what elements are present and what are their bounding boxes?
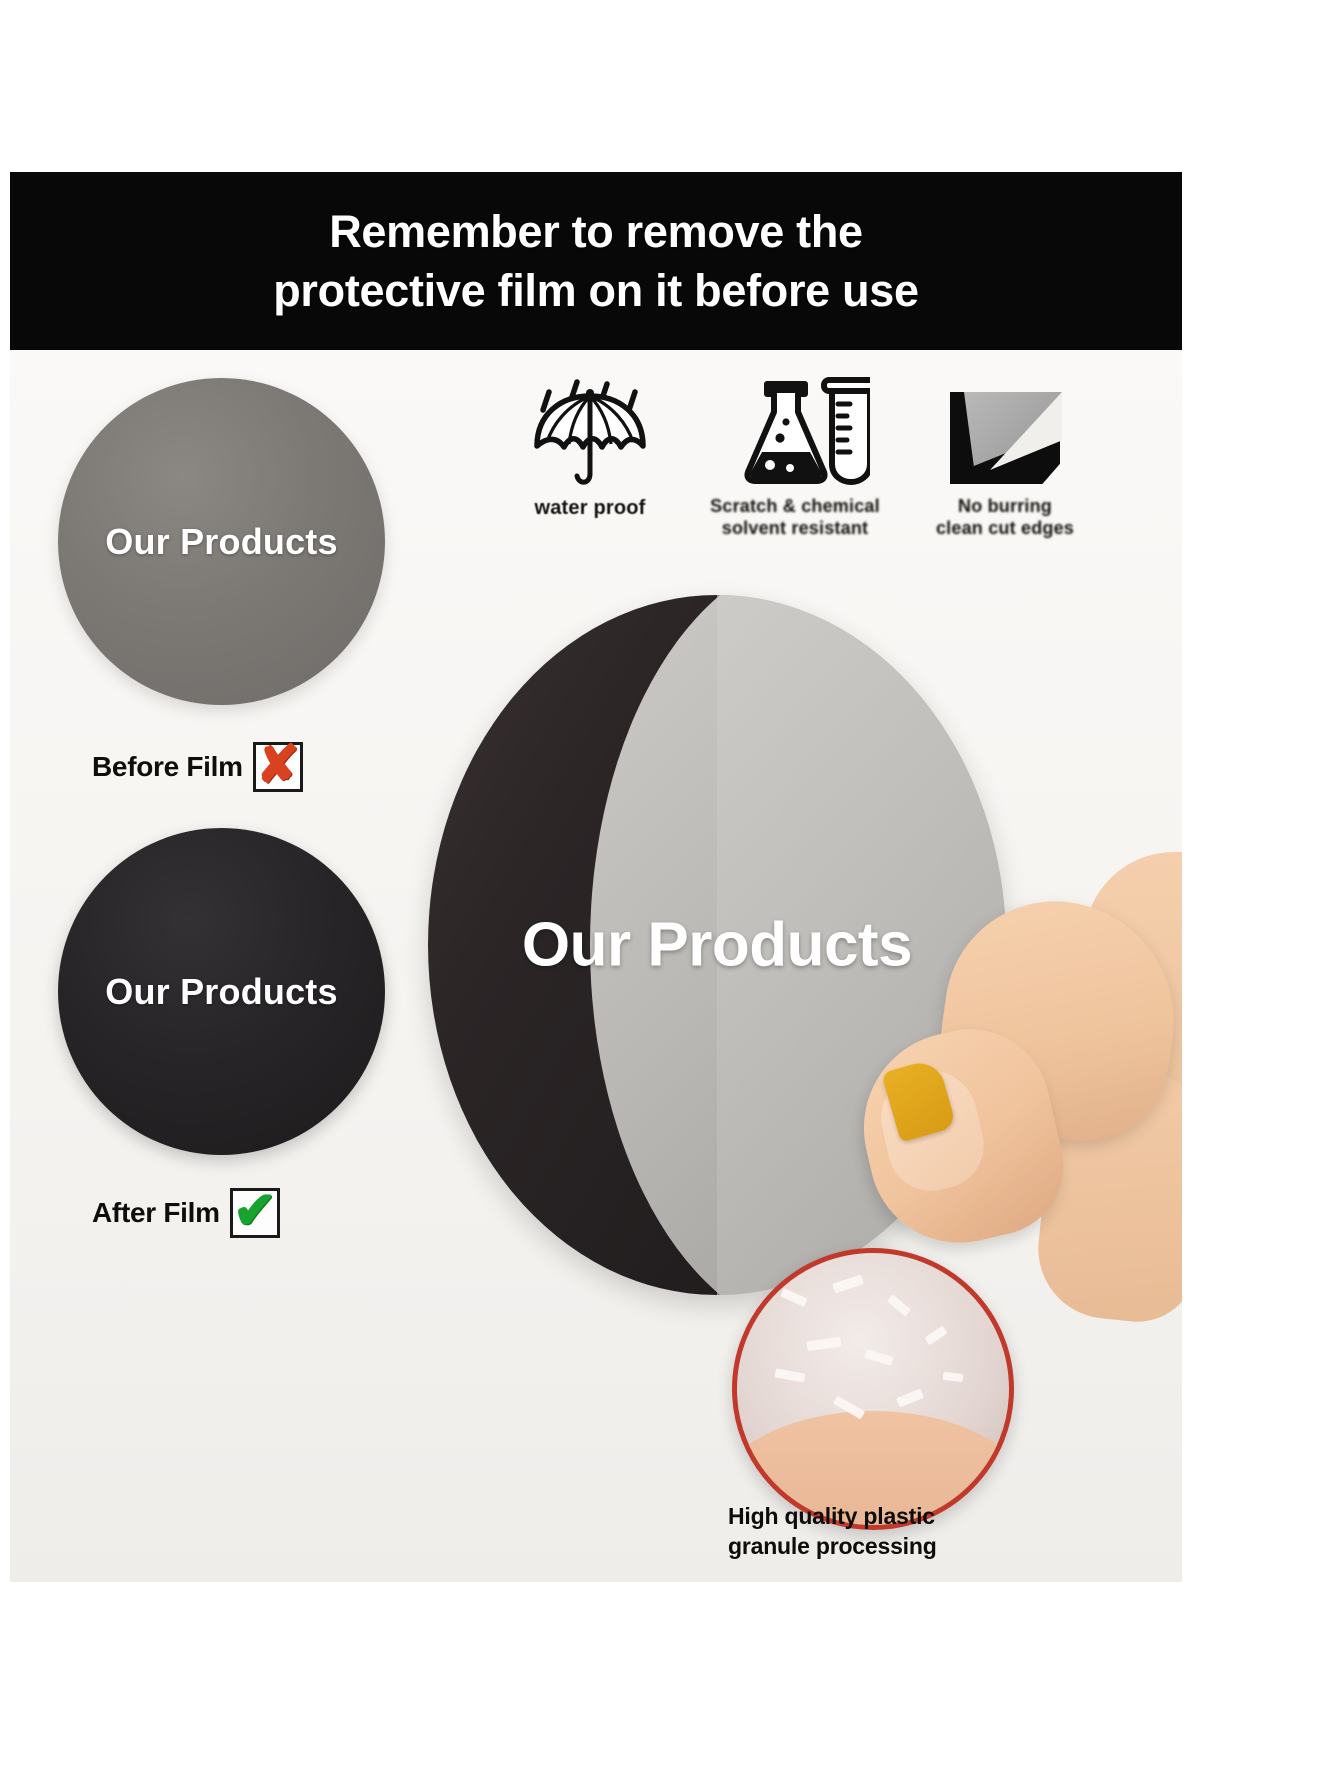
- after-film-state: After Film ✔: [92, 1188, 280, 1238]
- feature-label-water-proof: water proof: [475, 496, 705, 520]
- cross-mark-icon: ✘: [253, 742, 303, 792]
- granule-flake: [864, 1349, 893, 1365]
- granule-flake: [832, 1275, 864, 1294]
- edge-label-line-2: clean cut edges: [936, 518, 1074, 538]
- feature-water-proof: water proof: [475, 368, 705, 520]
- flask-test-tube-icon: [680, 368, 910, 486]
- after-film-label: After Film: [92, 1197, 220, 1229]
- after-circle-label: Our Products: [105, 971, 337, 1013]
- feature-label-chemical-resistant: Scratch & chemical solvent resistant: [680, 496, 910, 540]
- before-circle-label: Our Products: [105, 521, 337, 563]
- peeling-film-sheet-icon: [890, 368, 1120, 486]
- edge-label-line-1: No burring: [958, 496, 1052, 516]
- feature-chemical-resistant: Scratch & chemical solvent resistant: [680, 368, 910, 540]
- granule-caption-line-2: granule processing: [728, 1533, 937, 1559]
- granule-caption: High quality plastic granule processing: [728, 1502, 1028, 1562]
- cross-glyph: ✘: [256, 739, 300, 791]
- granule-flake: [887, 1294, 911, 1316]
- check-glyph: ✔: [233, 1185, 277, 1237]
- after-film-circle: Our Products: [58, 828, 385, 1155]
- granule-flake: [943, 1372, 964, 1382]
- headline-banner: Remember to remove the protective film o…: [10, 172, 1182, 350]
- chem-label-line-1: Scratch & chemical: [710, 496, 880, 516]
- feature-label-clean-cut-edges: No burring clean cut edges: [890, 496, 1120, 540]
- content-stage: water proof: [10, 350, 1182, 1582]
- granule-flake: [896, 1388, 924, 1407]
- umbrella-rain-icon: [475, 368, 705, 486]
- feature-clean-cut-edges: No burring clean cut edges: [890, 368, 1120, 540]
- granule-caption-line-1: High quality plastic: [728, 1503, 935, 1529]
- headline-line-2: protective film on it before use: [273, 261, 919, 320]
- granule-flake: [774, 1368, 805, 1382]
- before-film-label: Before Film: [92, 751, 243, 783]
- before-film-state: Before Film ✘: [92, 742, 303, 792]
- granule-closeup-inset: [732, 1248, 1014, 1530]
- headline-line-1: Remember to remove the: [329, 202, 863, 261]
- before-film-circle: Our Products: [58, 378, 385, 705]
- granule-flake: [806, 1337, 841, 1352]
- product-promo-image: Remember to remove the protective film o…: [10, 172, 1182, 1582]
- granule-flake: [924, 1326, 947, 1346]
- check-mark-icon: ✔: [230, 1188, 280, 1238]
- granule-flake: [780, 1288, 807, 1307]
- chem-label-line-2: solvent resistant: [722, 518, 868, 538]
